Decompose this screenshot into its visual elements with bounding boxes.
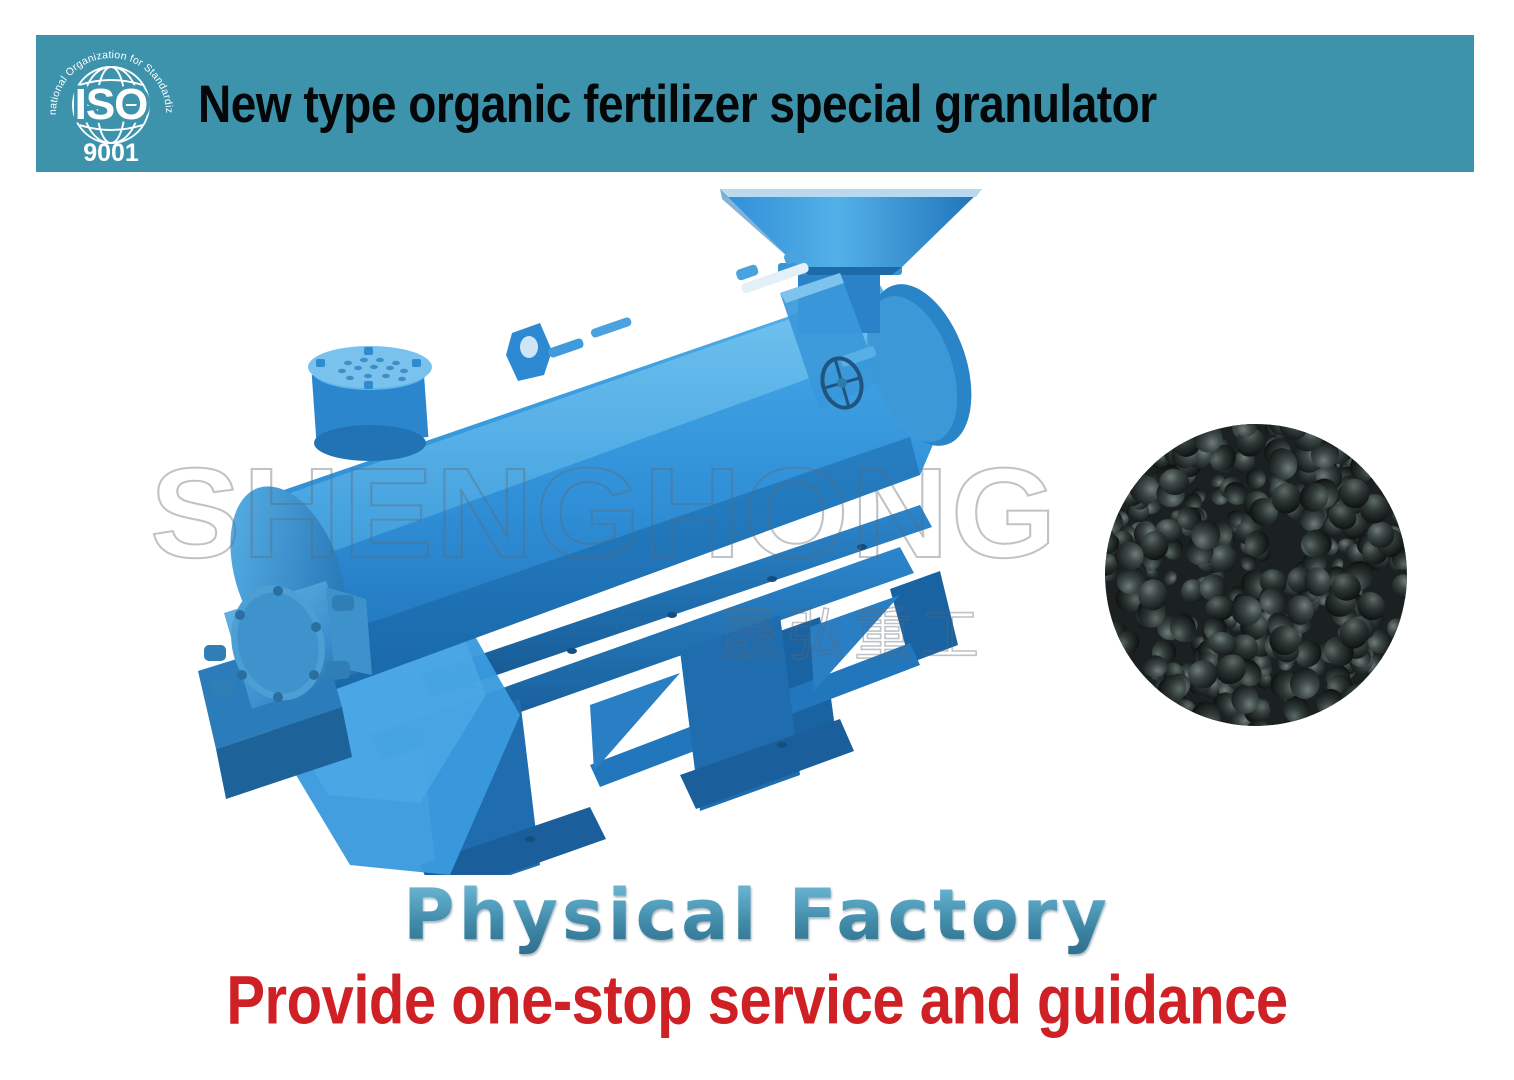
header-bar: International Organization for Standardi…: [36, 35, 1474, 172]
granulator-machine-photo: [120, 175, 1080, 875]
footer-headline-text: Physical Factory: [403, 874, 1111, 956]
svg-text:ISO: ISO: [75, 80, 148, 129]
footer-headline: Physical Factory: [0, 880, 1514, 950]
footer-tagline: Provide one-stop service and guidance: [0, 967, 1514, 1035]
lifting-lug: [506, 323, 585, 381]
iso-logo-icon: International Organization for Standardi…: [36, 35, 186, 172]
perforated-vent-cap: [308, 346, 432, 461]
fertilizer-granule-photo: [1105, 424, 1407, 726]
poster-canvas: International Organization for Standardi…: [0, 0, 1514, 1080]
svg-text:9001: 9001: [83, 139, 139, 167]
granulator-illustration: [120, 175, 1080, 875]
header-title: New type organic fertilizer special gran…: [198, 77, 1474, 129]
granule-illustration: [1105, 424, 1407, 726]
iso-9001-badge: International Organization for Standardi…: [36, 35, 186, 172]
